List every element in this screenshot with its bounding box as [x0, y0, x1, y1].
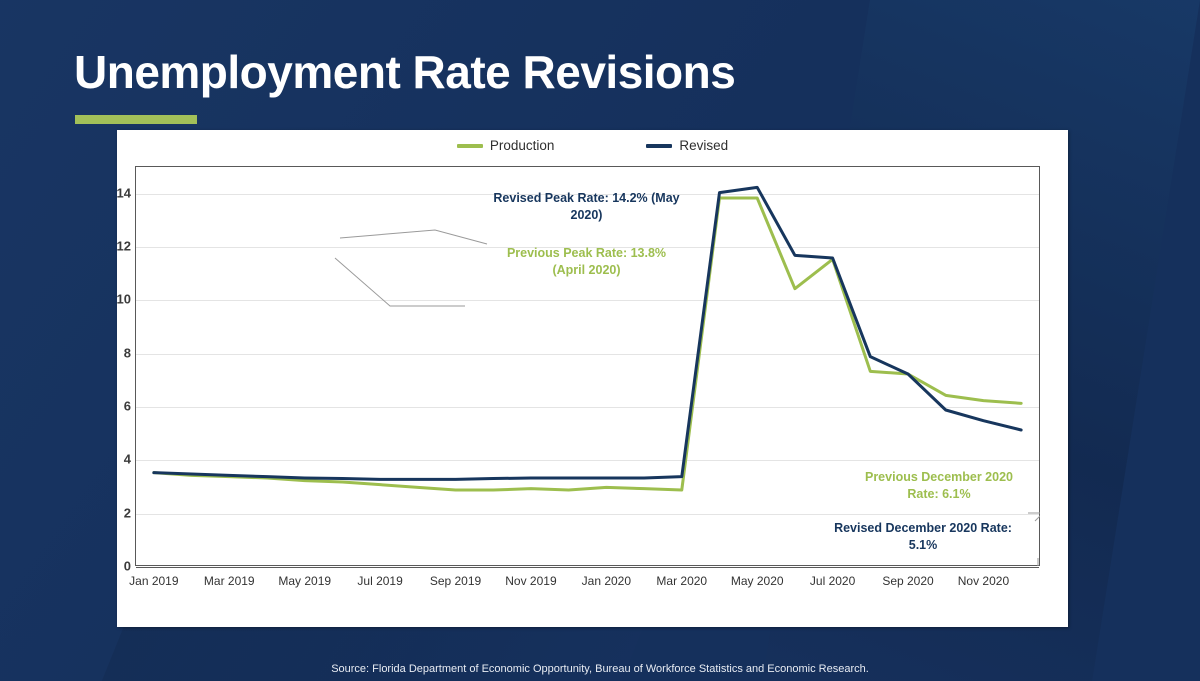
y-tick-0: 0 — [97, 559, 131, 574]
x-tick-nov-2019: Nov 2019 — [505, 574, 556, 588]
y-tick-10: 10 — [97, 292, 131, 307]
legend-label-revised: Revised — [679, 138, 728, 153]
annotation-previous-peak-line2: (April 2020) — [489, 262, 684, 279]
x-tick-may-2019: May 2019 — [278, 574, 331, 588]
series-line-production — [154, 198, 1021, 490]
leader-previous-peak — [335, 258, 465, 306]
y-axis-tick-labels: 02468101214 — [97, 166, 131, 566]
series-line-revised — [154, 187, 1021, 479]
legend-swatch-revised — [646, 144, 672, 148]
x-tick-may-2020: May 2020 — [731, 574, 784, 588]
x-tick-jul-2020: Jul 2020 — [810, 574, 855, 588]
leader-revised-peak — [340, 230, 487, 244]
annotation-previous-december-line1: Previous December 2020 — [844, 469, 1034, 486]
annotation-previous-december: Previous December 2020 Rate: 6.1% — [844, 469, 1034, 503]
chart-legend: Production Revised — [117, 138, 1068, 153]
y-tick-12: 12 — [97, 239, 131, 254]
y-tick-14: 14 — [97, 185, 131, 200]
annotation-revised-december-line1: Revised December 2020 Rate: — [813, 520, 1033, 537]
y-tick-8: 8 — [97, 345, 131, 360]
gridline-0 — [136, 567, 1039, 568]
annotation-previous-peak-line1: Previous Peak Rate: 13.8% — [489, 245, 684, 262]
x-tick-jan-2019: Jan 2019 — [129, 574, 178, 588]
slide-canvas: Unemployment Rate Revisions Production R… — [0, 0, 1200, 681]
chart-series-layer — [135, 166, 1040, 566]
annotation-revised-peak-line2: 2020) — [479, 207, 694, 224]
annotation-revised-december-line2: 5.1% — [813, 537, 1033, 554]
x-tick-mar-2020: Mar 2020 — [656, 574, 707, 588]
annotation-revised-peak: Revised Peak Rate: 14.2% (May 2020) — [479, 190, 694, 224]
legend-item-revised[interactable]: Revised — [646, 138, 728, 153]
y-tick-4: 4 — [97, 452, 131, 467]
x-tick-jan-2020: Jan 2020 — [582, 574, 631, 588]
legend-swatch-production — [457, 144, 483, 148]
title-accent-bar — [75, 115, 197, 124]
legend-item-production[interactable]: Production — [457, 138, 555, 153]
annotation-revised-december: Revised December 2020 Rate: 5.1% — [813, 520, 1033, 554]
leader-revised-december — [1030, 558, 1038, 566]
y-tick-6: 6 — [97, 399, 131, 414]
x-tick-sep-2020: Sep 2020 — [882, 574, 933, 588]
annotation-previous-december-line2: Rate: 6.1% — [844, 486, 1034, 503]
x-tick-jul-2019: Jul 2019 — [357, 574, 402, 588]
x-tick-nov-2020: Nov 2020 — [958, 574, 1009, 588]
x-tick-sep-2019: Sep 2019 — [430, 574, 481, 588]
page-title: Unemployment Rate Revisions — [74, 48, 735, 96]
legend-label-production: Production — [490, 138, 555, 153]
annotation-previous-peak: Previous Peak Rate: 13.8% (April 2020) — [489, 245, 684, 279]
y-tick-2: 2 — [97, 505, 131, 520]
chart-card: Production Revised 02468101214 Jan 2019M… — [117, 130, 1068, 627]
annotation-revised-peak-line1: Revised Peak Rate: 14.2% (May — [479, 190, 694, 207]
x-axis-tick-labels: Jan 2019Mar 2019May 2019Jul 2019Sep 2019… — [135, 574, 1040, 594]
x-tick-mar-2019: Mar 2019 — [204, 574, 255, 588]
source-note: Source: Florida Department of Economic O… — [0, 663, 1200, 675]
